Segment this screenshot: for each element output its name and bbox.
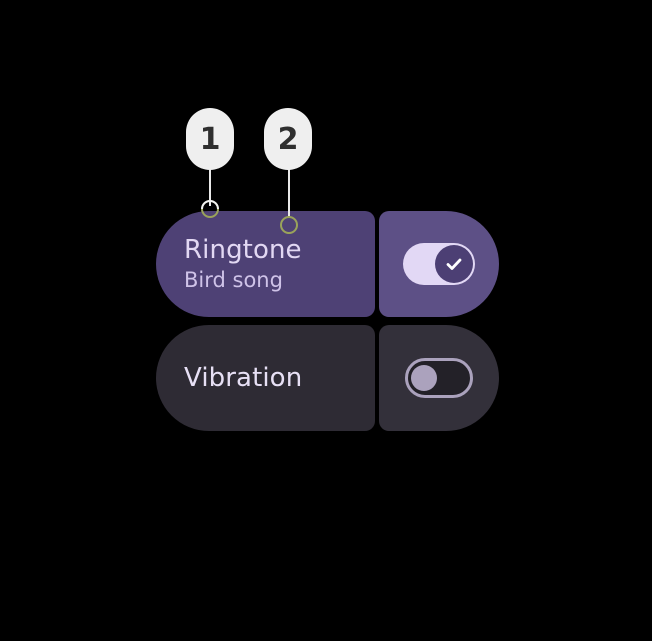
check-icon <box>443 253 465 275</box>
annotation-marker-2: 2 <box>264 108 312 170</box>
vibration-toggle-switch[interactable] <box>405 358 473 398</box>
toggle-thumb <box>411 365 437 391</box>
annotation-target-dot-1 <box>201 200 219 218</box>
settings-row-vibration[interactable]: Vibration <box>156 325 499 431</box>
settings-row-ringtone[interactable]: Ringtone Bird song <box>156 211 499 317</box>
ringtone-title: Ringtone <box>184 235 375 265</box>
ringtone-toggle-switch[interactable] <box>403 243 475 285</box>
ringtone-subtitle: Bird song <box>184 267 375 293</box>
ringtone-label-card[interactable]: Ringtone Bird song <box>156 211 375 317</box>
toggle-thumb <box>435 245 473 283</box>
annotation-leader-line-2 <box>288 168 290 218</box>
ringtone-toggle-card[interactable] <box>379 211 499 317</box>
screen-background: Ringtone Bird song Vibration <box>0 0 652 641</box>
vibration-label-card[interactable]: Vibration <box>156 325 375 431</box>
annotation-target-dot-2 <box>280 216 298 234</box>
vibration-toggle-card[interactable] <box>379 325 499 431</box>
annotation-marker-1: 1 <box>186 108 234 170</box>
vibration-title: Vibration <box>184 363 375 393</box>
